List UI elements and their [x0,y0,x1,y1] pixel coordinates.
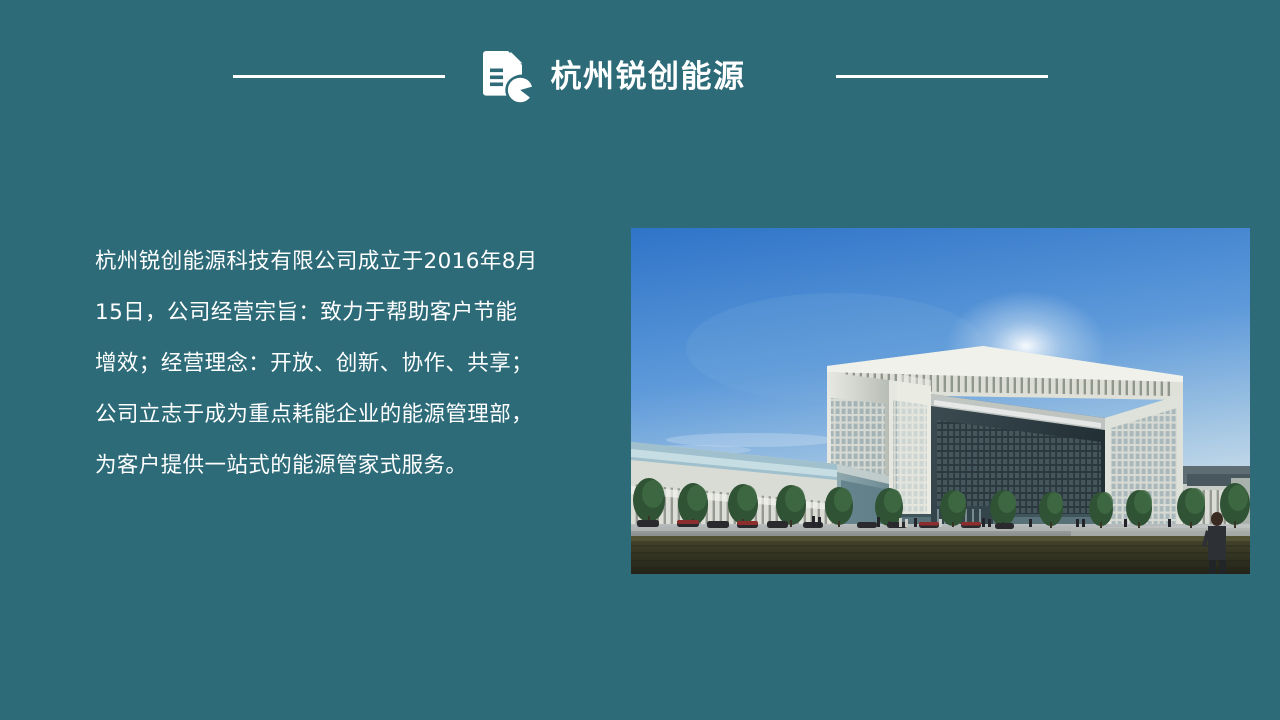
brand-block: 杭州锐创能源 [481,48,746,104]
description-line: 杭州锐创能源科技有限公司成立于2016年8月 [95,236,600,287]
description-line: 公司立志于成为重点耗能企业的能源管理部， [95,389,600,440]
office-building-photo [631,228,1250,574]
horizontal-rule-right-icon [836,75,1048,78]
company-description: 杭州锐创能源科技有限公司成立于2016年8月 15日，公司经营宗旨：致力于帮助客… [95,236,600,491]
document-chart-icon [481,48,535,104]
description-line: 为客户提供一站式的能源管家式服务。 [95,440,600,491]
description-line: 增效；经营理念：开放、创新、协作、共享； [95,338,600,389]
slide-root: 杭州锐创能源 杭州锐创能源科技有限公司成立于2016年8月 15日，公司经营宗旨… [0,0,1280,720]
slide-header: 杭州锐创能源 [0,48,1280,104]
horizontal-rule-left-icon [233,75,445,78]
description-line: 15日，公司经营宗旨：致力于帮助客户节能 [95,287,600,338]
office-building-illustration [631,228,1250,574]
brand-title: 杭州锐创能源 [551,61,746,92]
